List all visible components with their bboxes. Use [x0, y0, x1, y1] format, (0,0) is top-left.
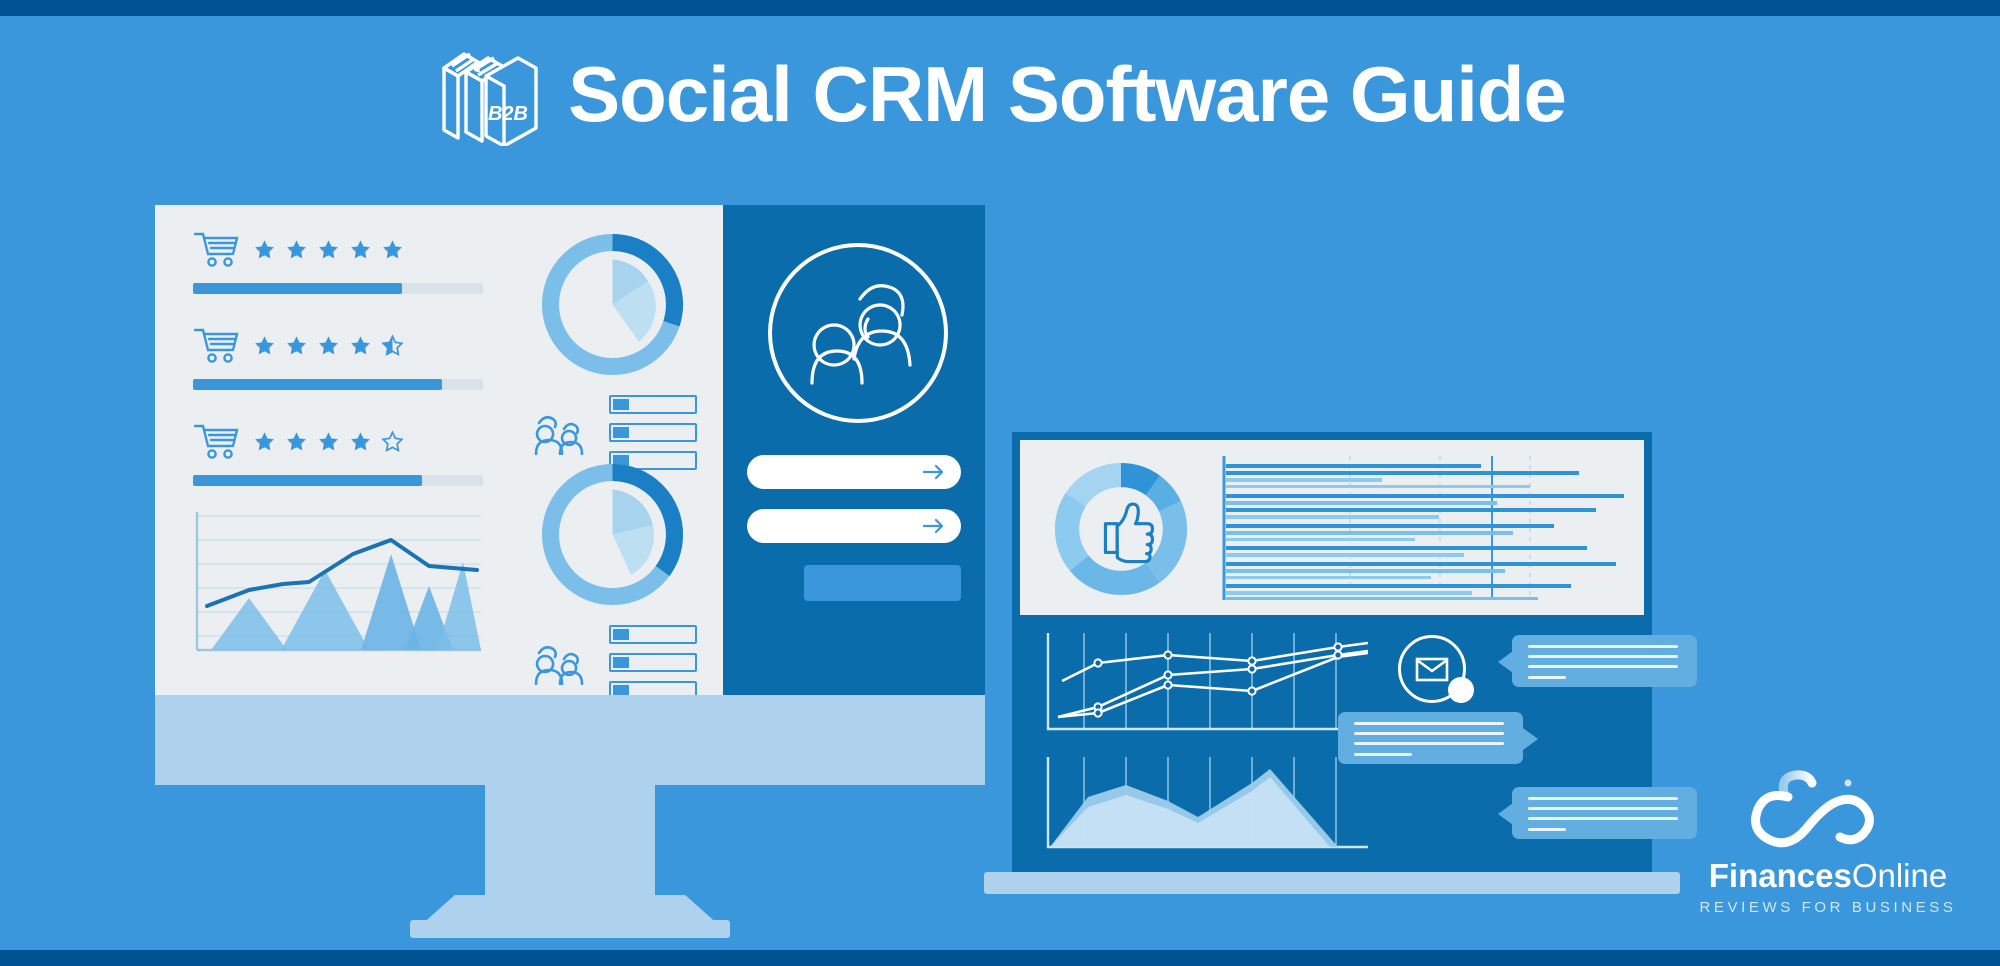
input-field-2[interactable]: [747, 509, 961, 543]
monitor-neck: [485, 785, 655, 895]
contact-bar: [609, 653, 697, 672]
monitor-screen: [155, 205, 985, 695]
books-badge-label: B2B: [488, 103, 528, 125]
monitor-donut-bottom: [535, 457, 690, 612]
message-bubble-outgoing-1[interactable]: [1338, 712, 1523, 764]
star-filled-icon: [349, 430, 372, 453]
star-filled-icon: [253, 238, 276, 261]
brand-name: FinancesOnline: [1698, 859, 1958, 894]
rating-progress-fill: [193, 475, 422, 486]
star-filled-icon: [253, 430, 276, 453]
rating-progress-bar: [193, 475, 483, 486]
books-icon: B2B: [434, 42, 546, 146]
star-filled-icon: [349, 238, 372, 261]
people-avatar-icon: [772, 247, 944, 419]
laptop-top-panel: [1020, 440, 1644, 615]
shopping-cart-icon: [193, 422, 239, 460]
star-rating: [253, 430, 404, 453]
shopping-cart-icon: [193, 326, 239, 364]
monitor-base: [155, 695, 985, 785]
people-icon: [533, 411, 595, 455]
monitor-donut-top: [535, 227, 690, 382]
input-field-1[interactable]: [747, 455, 961, 489]
bubble-tail: [1523, 728, 1538, 750]
trend-line: [207, 540, 477, 606]
star-filled-icon: [253, 334, 276, 357]
top-accent-bar: [0, 0, 2000, 16]
rating-row: [193, 227, 483, 271]
submit-button[interactable]: [804, 565, 961, 601]
contact-bar: [609, 395, 697, 414]
star-filled-icon: [317, 334, 340, 357]
avatar: [768, 243, 948, 423]
envelope-icon: [1415, 656, 1449, 682]
star-filled-icon: [285, 430, 308, 453]
star-rating: [253, 334, 404, 357]
bubble-tail: [1498, 803, 1513, 825]
desktop-monitor: [155, 205, 985, 785]
poster-canvas: B2B Social CRM Software Guide: [0, 0, 2000, 966]
monitor-trend-chart: [193, 510, 481, 655]
contact-widget: [533, 625, 697, 700]
shopping-cart-icon: [193, 230, 239, 268]
laptop-donut-thumbsup: [1050, 458, 1192, 600]
brand-tagline: REVIEWS FOR BUSINESS: [1698, 899, 1958, 916]
monitor-right-panel: [723, 205, 985, 695]
rating-row: [193, 419, 483, 463]
star-filled-icon: [285, 334, 308, 357]
infinity-cloud-logo: [1744, 763, 1912, 855]
laptop: [1012, 432, 1652, 917]
arrow-right-icon: [923, 518, 945, 534]
brand-name-bold: Finances: [1709, 857, 1852, 894]
brand-logo: FinancesOnline REVIEWS FOR BUSINESS: [1698, 763, 1958, 916]
rating-progress-bar: [193, 283, 483, 294]
star-filled-icon: [285, 238, 308, 261]
message-bubble-incoming-1[interactable]: [1512, 635, 1697, 687]
page-header: B2B Social CRM Software Guide: [0, 34, 2000, 154]
brand-name-light: Online: [1852, 857, 1947, 894]
arrow-right-icon: [923, 464, 945, 480]
page-title: Social CRM Software Guide: [568, 55, 1566, 133]
contact-bar: [609, 625, 697, 644]
rating-progress-bar: [193, 379, 483, 390]
message-bubble-incoming-2[interactable]: [1512, 787, 1697, 839]
laptop-multi-line-chart: [1038, 629, 1368, 739]
laptop-base: [984, 872, 1680, 894]
star-filled-icon: [381, 238, 404, 261]
laptop-area-chart: [1038, 755, 1368, 855]
bottom-accent-bar: [0, 950, 2000, 966]
rating-progress-fill: [193, 283, 402, 294]
star-empty-icon: [381, 430, 404, 453]
laptop-screen: [1012, 432, 1652, 872]
people-icon: [533, 641, 595, 685]
notification-dot: [1448, 677, 1474, 703]
star-half-icon: [381, 334, 404, 357]
rating-row: [193, 323, 483, 367]
contact-bar: [609, 423, 697, 442]
star-filled-icon: [317, 238, 340, 261]
bubble-tail: [1498, 651, 1513, 673]
laptop-bottom-panel: [1020, 615, 1644, 864]
contact-bars: [609, 625, 697, 700]
star-filled-icon: [349, 334, 372, 357]
laptop-horizontal-bar-chart: [1220, 454, 1630, 602]
star-rating: [253, 238, 404, 261]
monitor-foot: [410, 920, 730, 938]
star-filled-icon: [317, 430, 340, 453]
rating-progress-fill: [193, 379, 442, 390]
